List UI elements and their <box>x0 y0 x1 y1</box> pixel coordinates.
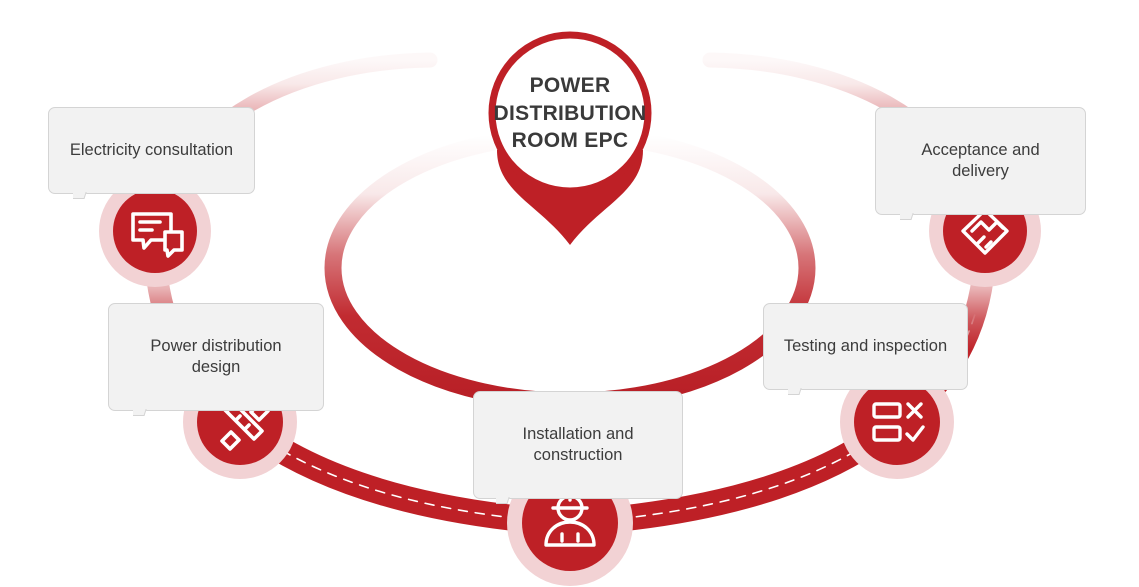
callout-tail <box>133 409 147 423</box>
step-label-text: Testing and inspection <box>784 337 947 355</box>
step-label-acceptance-and-delivery[interactable]: Acceptance and delivery <box>875 107 1086 215</box>
step-label-installation-and-construction[interactable]: Installation and construction <box>473 391 683 499</box>
callout-tail <box>73 192 87 206</box>
center-map-pin-icon <box>492 35 648 245</box>
callout-tail <box>496 497 510 511</box>
step-label-text: Electricity consultation <box>70 141 233 159</box>
step-label-testing-and-inspection[interactable]: Testing and inspection <box>763 303 968 390</box>
callout-tail <box>900 213 914 227</box>
step-label-power-distribution-design[interactable]: Power distribution design <box>108 303 324 411</box>
callout-tail <box>788 388 802 402</box>
infographic-canvas: POWER DISTRIBUTION ROOM EPC Electricity … <box>0 0 1139 587</box>
step-label-text: Acceptance and delivery <box>921 141 1039 180</box>
step-label-electricity-consultation[interactable]: Electricity consultation <box>48 107 255 194</box>
step-label-text: Installation and construction <box>523 425 634 464</box>
step-label-text: Power distribution design <box>150 337 281 376</box>
